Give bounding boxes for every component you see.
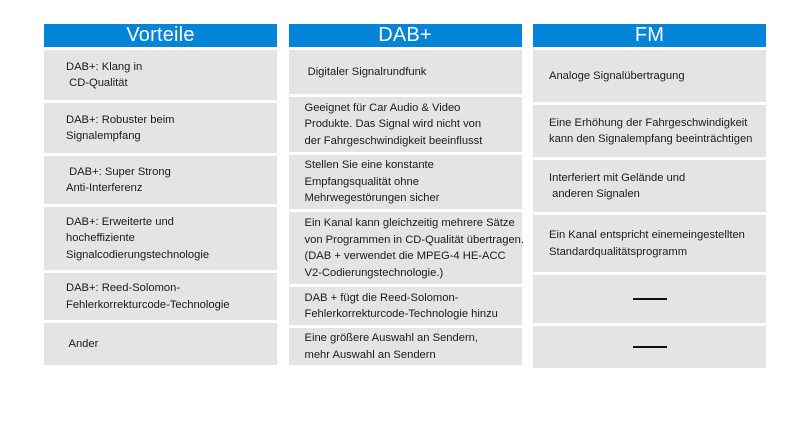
cell-line: kann den Signalempfang beeinträchtigen [549, 131, 754, 148]
table-cell: DAB+: Erweiterte und hocheffiziente Sign… [44, 207, 277, 270]
cell-line: Standardqualitätsprogramm [549, 244, 754, 261]
cell-line: V2-Codierungstechnologie.) [305, 265, 510, 282]
cell-line: DAB+: Erweiterte und [66, 214, 265, 231]
table-cell: Eine größere Auswahl an Sendern, mehr Au… [289, 328, 522, 365]
column-header-fm: FM [533, 24, 766, 47]
comparison-table: Vorteile DAB+: Klang in CD-Qualität DAB+… [44, 24, 766, 358]
table-cell: Ein Kanal entspricht einemeingestellten … [533, 215, 766, 272]
column-body-dab-plus: Digitaler Signalrundfunk Geeignet für Ca… [289, 47, 522, 365]
cell-line: Signalcodierungstechnologie [66, 247, 265, 264]
cell-line: Ander [66, 336, 265, 353]
cell-line: Signalempfang [66, 128, 265, 145]
table-cell: DAB + fügt die Reed-Solomon- Fehlerkorre… [289, 287, 522, 325]
cell-line: Eine größere Auswahl an Sendern, [305, 330, 510, 347]
cell-line: DAB + fügt die Reed-Solomon- [305, 290, 510, 307]
cell-line: Fehlerkorrekturcode-Technologie [66, 297, 265, 314]
cell-line: Ein Kanal entspricht einemeingestellten [549, 227, 754, 244]
cell-line: Eine Erhöhung der Fahrgeschwindigkeit [549, 115, 754, 132]
cell-line: Analoge Signalübertragung [549, 68, 754, 85]
table-cell: DAB+: Robuster beim Signalempfang [44, 103, 277, 153]
cell-line: CD-Qualität [66, 75, 265, 92]
cell-line: Stellen Sie eine konstante [305, 157, 510, 174]
table-cell: Digitaler Signalrundfunk [289, 50, 522, 94]
cell-line: mehr Auswahl an Sendern [305, 347, 510, 364]
column-dab-plus: DAB+ Digitaler Signalrundfunk Geeignet f… [289, 24, 522, 358]
table-cell: DAB+: Super Strong Anti-Interferenz [44, 156, 277, 204]
cell-line: Ein Kanal kann gleichzeitig mehrere Sätz… [305, 215, 510, 232]
dash-icon [633, 298, 667, 300]
cell-line: DAB+: Super Strong [66, 164, 265, 181]
column-header-vorteile: Vorteile [44, 24, 277, 47]
table-cell: DAB+: Reed-Solomon- Fehlerkorrekturcode-… [44, 273, 277, 320]
cell-line: Anti-Interferenz [66, 180, 265, 197]
column-body-fm: Analoge Signalübertragung Eine Erhöhung … [533, 47, 766, 368]
cell-line: (DAB + verwendet die MPEG-4 HE-ACC [305, 248, 510, 265]
table-cell: DAB+: Klang in CD-Qualität [44, 50, 277, 100]
cell-line: Geeignet für Car Audio & Video [305, 100, 510, 117]
table-cell: Analoge Signalübertragung [533, 50, 766, 102]
table-cell: Geeignet für Car Audio & Video Produkte.… [289, 97, 522, 152]
table-cell: Interferiert mit Gelände und anderen Sig… [533, 160, 766, 212]
column-header-dab-plus: DAB+ [289, 24, 522, 47]
cell-line: anderen Signalen [549, 186, 754, 203]
cell-line: der Fahrgeschwindigkeit beeinflusst [305, 133, 510, 150]
table-cell: Ander [44, 323, 277, 365]
dash-icon [633, 346, 667, 348]
cell-line: Empfangsqualität ohne [305, 174, 510, 191]
table-cell-empty [533, 275, 766, 323]
cell-line: hocheffiziente [66, 230, 265, 247]
table-cell-empty [533, 326, 766, 368]
cell-line: Digitaler Signalrundfunk [305, 64, 510, 81]
cell-line: Fehlerkorrekturcode-Technologie hinzu [305, 306, 510, 323]
table-cell: Ein Kanal kann gleichzeitig mehrere Sätz… [289, 212, 522, 284]
table-cell: Eine Erhöhung der Fahrgeschwindigkeit ka… [533, 105, 766, 157]
cell-line: Produkte. Das Signal wird nicht von [305, 116, 510, 133]
column-body-vorteile: DAB+: Klang in CD-Qualität DAB+: Robuste… [44, 47, 277, 365]
cell-line: Interferiert mit Gelände und [549, 170, 754, 187]
cell-line: DAB+: Klang in [66, 59, 265, 76]
column-fm: FM Analoge Signalübertragung Eine Erhöhu… [533, 24, 766, 358]
cell-line: DAB+: Robuster beim [66, 112, 265, 129]
table-cell: Stellen Sie eine konstante Empfangsquali… [289, 155, 522, 209]
cell-line: von Programmen in CD-Qualität übertragen… [305, 232, 510, 249]
column-vorteile: Vorteile DAB+: Klang in CD-Qualität DAB+… [44, 24, 277, 358]
cell-line: Mehrwegestörungen sicher [305, 190, 510, 207]
cell-line: DAB+: Reed-Solomon- [66, 280, 265, 297]
